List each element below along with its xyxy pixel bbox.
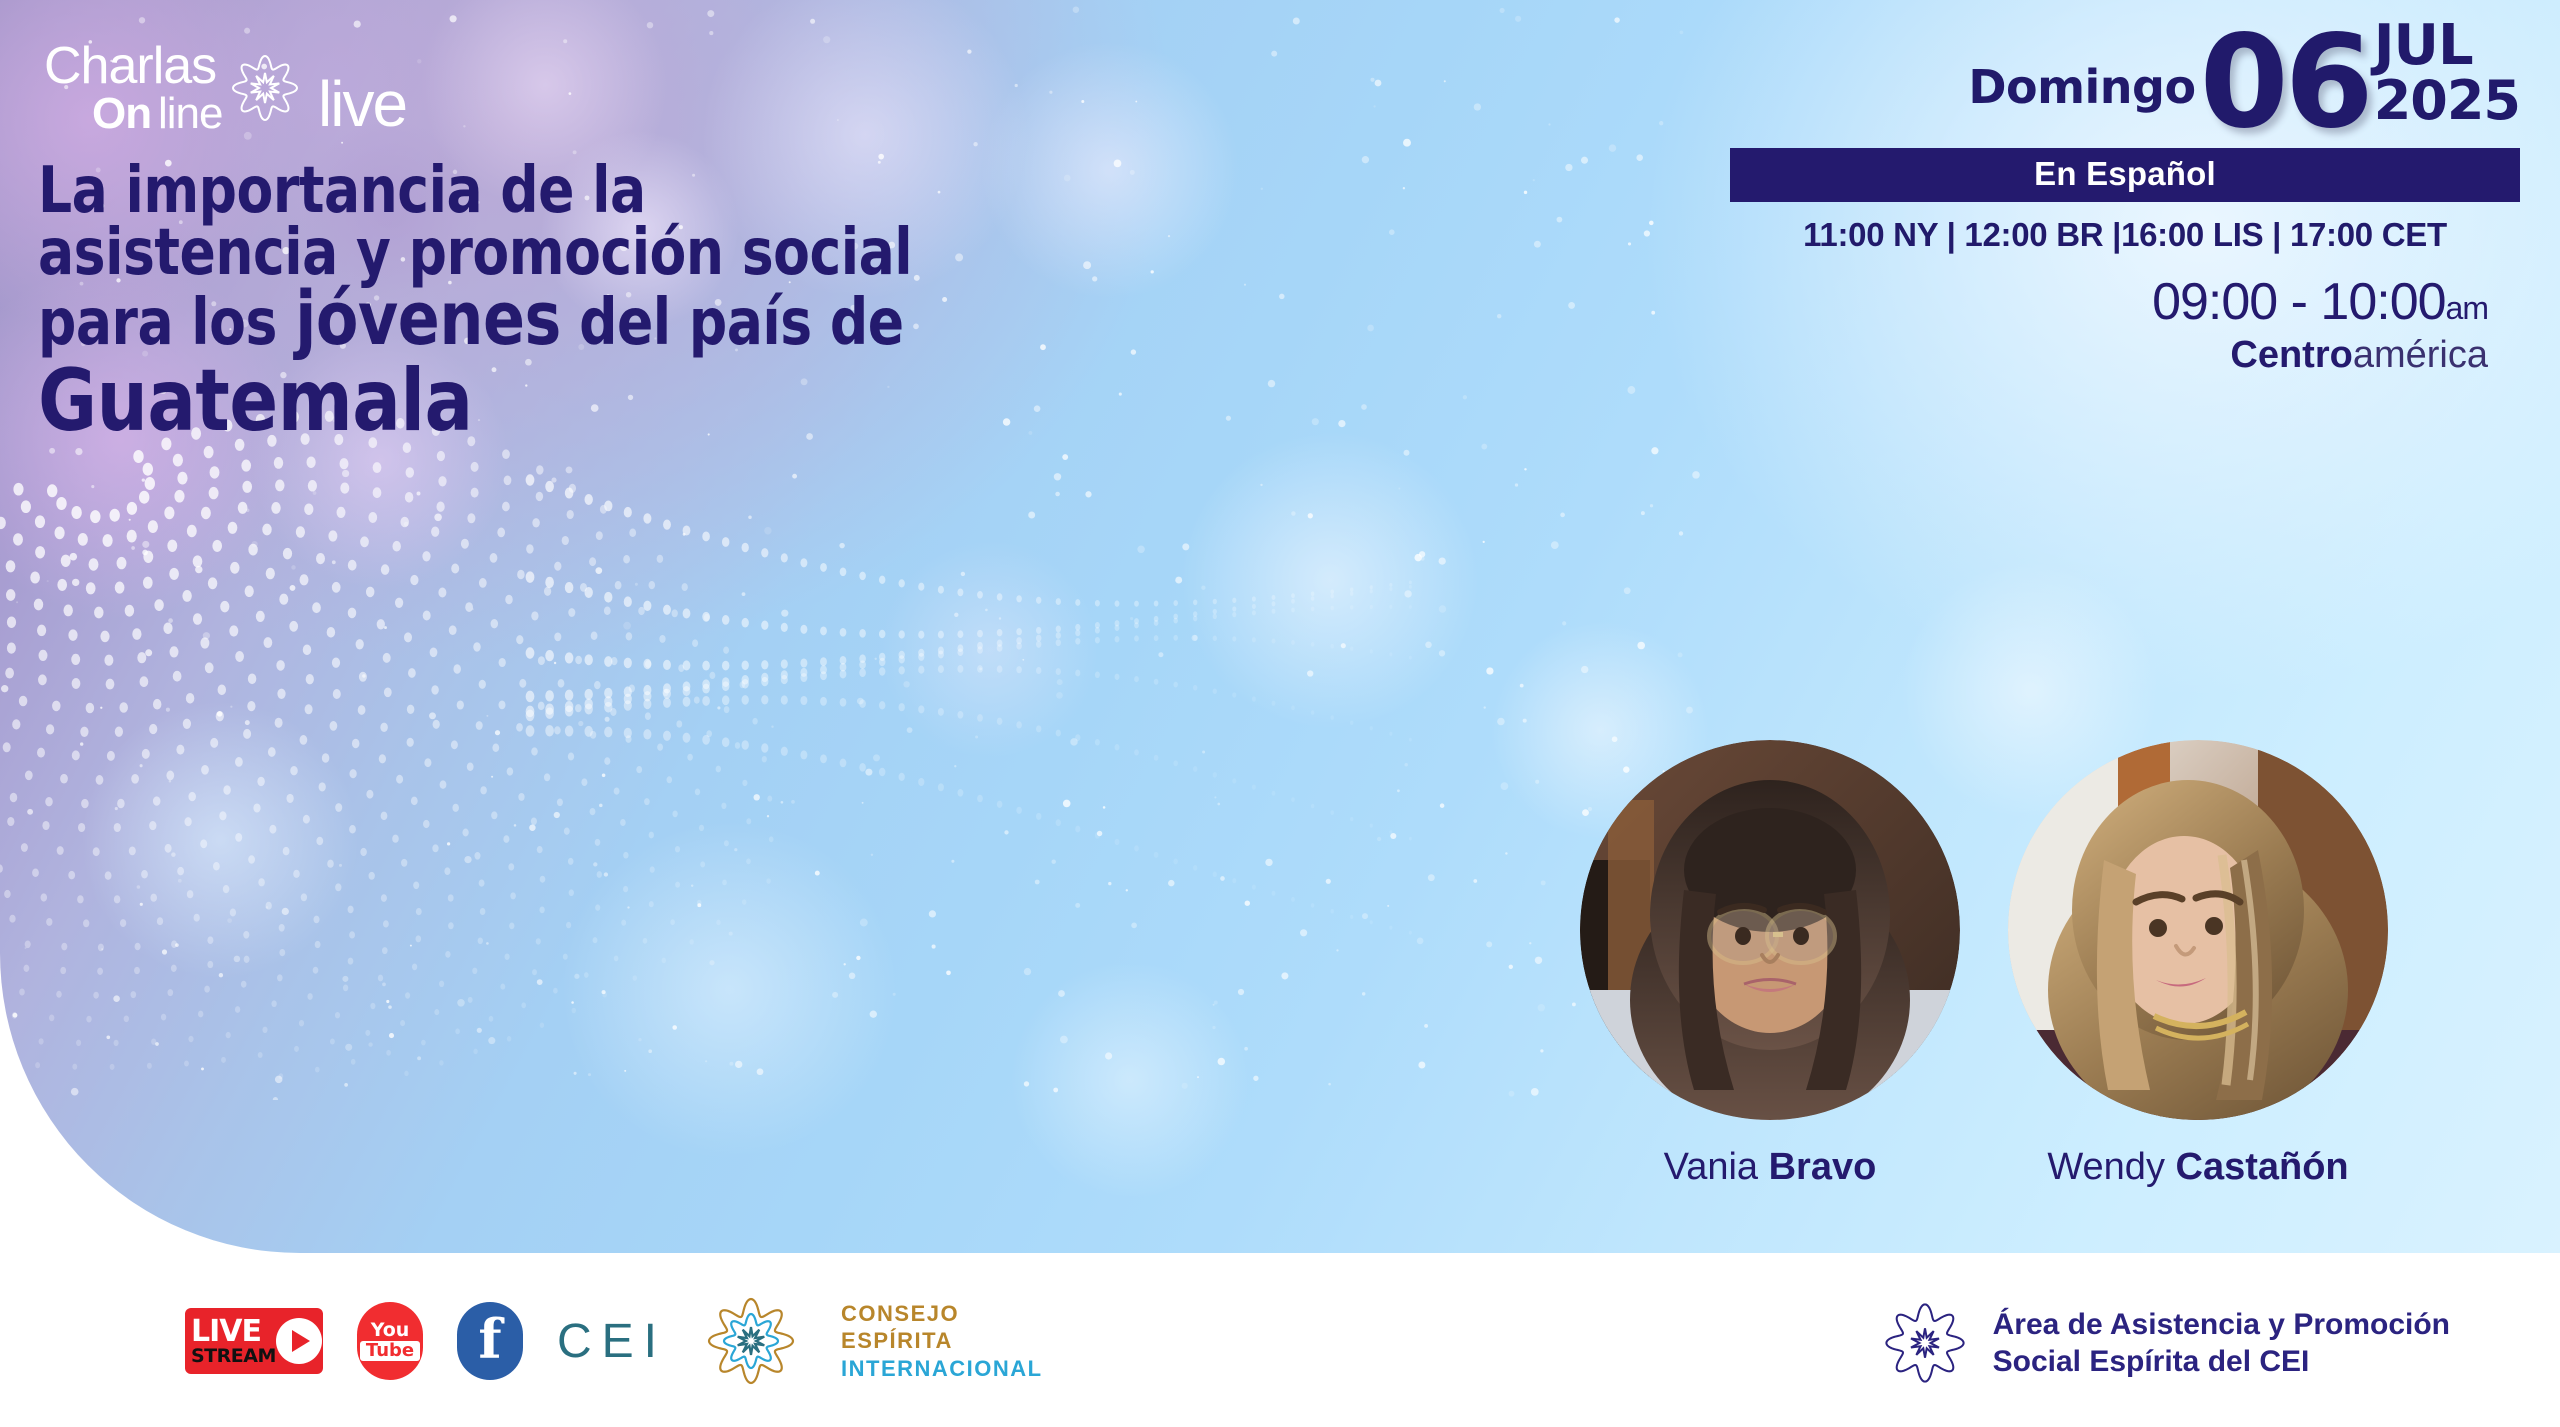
- cei-mandala-icon: [701, 1291, 801, 1391]
- month-label: JUL: [2374, 18, 2473, 74]
- facebook-icon[interactable]: f: [457, 1302, 523, 1380]
- region-label: Centroamérica: [1730, 334, 2520, 377]
- speaker-card: Wendy Castañón: [2008, 740, 2388, 1189]
- title-line-3-c: del país de: [561, 286, 904, 360]
- cei-fullname: CONSEJO ESPÍRITA INTERNACIONAL: [841, 1300, 1043, 1383]
- title-line-3-a: para los: [38, 286, 295, 360]
- svg-text:line: line: [158, 89, 223, 138]
- speaker-last-name: Bravo: [1769, 1146, 1877, 1188]
- bokeh-blob: [80, 700, 360, 980]
- footer-area-right: Área de Asistencia y Promoción Social Es…: [1879, 1297, 2450, 1389]
- bokeh-blob: [880, 540, 1100, 760]
- region-light: américa: [2353, 334, 2488, 376]
- footer-bar: LIVE STREAM You Tube f CEI: [0, 1253, 2560, 1427]
- youtube-tube-label: Tube: [360, 1341, 420, 1360]
- svg-text:Charlas: Charlas: [44, 37, 216, 95]
- speaker-card: Vania Bravo: [1580, 740, 1960, 1189]
- play-icon: [276, 1318, 322, 1364]
- live-label: LIVE: [191, 1317, 276, 1347]
- year-label: 2025: [2374, 74, 2520, 128]
- speaker-name: Wendy Castañón: [2008, 1146, 2388, 1189]
- event-hours: 09:00 - 10:00am: [1730, 272, 2520, 332]
- bokeh-blob: [1180, 430, 1480, 730]
- cei-line-2: ESPÍRITA: [841, 1327, 1043, 1355]
- webinar-banner: Charlas On line live La importancia de l…: [0, 0, 2560, 1427]
- language-bar: En Español: [1730, 148, 2520, 202]
- hours-value: 09:00 - 10:00: [2152, 273, 2445, 331]
- cei-wordmark: CEI: [557, 1314, 667, 1369]
- area-line-1: Área de Asistencia y Promoción: [1993, 1306, 2450, 1344]
- speaker-photo-wendy: [2008, 740, 2388, 1120]
- date-time-block: Domingo 06 JUL 2025 En Español 11:00 NY …: [1730, 18, 2520, 377]
- timezone-line: 11:00 NY | 12:00 BR |16:00 LIS | 17:00 C…: [1730, 216, 2520, 254]
- title-line-1: La importancia de la: [38, 160, 996, 222]
- cei-line-1: CONSEJO: [841, 1300, 1043, 1328]
- region-bold: Centro: [2230, 334, 2352, 376]
- svg-text:live: live: [318, 68, 406, 138]
- day-number: 06: [2200, 31, 2370, 136]
- bokeh-blob: [1010, 960, 1250, 1200]
- main-panel: Charlas On line live La importancia de l…: [0, 0, 2560, 1253]
- charlas-online-live-logo: Charlas On line live: [40, 28, 440, 138]
- speaker-first-name: Wendy: [2047, 1146, 2175, 1188]
- stream-label: STREAM: [191, 1347, 276, 1366]
- avatar: [2008, 740, 2388, 1120]
- speaker-photo-vania: [1580, 740, 1960, 1120]
- month-year-column: JUL 2025: [2374, 18, 2520, 136]
- speaker-name: Vania Bravo: [1580, 1146, 1960, 1189]
- title-line-4: Guatemala: [38, 360, 996, 443]
- title-highlight-jovenes: jóvenes: [295, 276, 561, 362]
- cei-line-3: INTERNACIONAL: [841, 1355, 1043, 1383]
- title-line-2: asistencia y promoción social: [38, 222, 996, 284]
- svg-text:On: On: [92, 89, 151, 138]
- speaker-last-name: Castañón: [2176, 1146, 2349, 1188]
- weekday-label: Domingo: [1968, 60, 2195, 136]
- area-mandala-icon: [1879, 1297, 1971, 1389]
- live-stream-badge: LIVE STREAM: [185, 1308, 323, 1374]
- bokeh-blob: [560, 820, 900, 1160]
- speakers-list: Vania Bravo: [1580, 740, 2480, 1189]
- facebook-glyph: f: [478, 1312, 501, 1366]
- youtube-you-label: You: [371, 1321, 410, 1339]
- page-title: La importancia de la asistencia y promoc…: [38, 160, 1068, 443]
- footer-logos-left: LIVE STREAM You Tube f CEI: [185, 1291, 1043, 1391]
- date-row: Domingo 06 JUL 2025: [1730, 18, 2520, 136]
- area-line-2: Social Espírita del CEI: [1993, 1343, 2450, 1381]
- area-name: Área de Asistencia y Promoción Social Es…: [1993, 1306, 2450, 1381]
- avatar: [1580, 740, 1960, 1120]
- title-line-3: para los jóvenes del país de: [38, 284, 996, 356]
- youtube-icon[interactable]: You Tube: [357, 1302, 423, 1380]
- hours-ampm: am: [2446, 290, 2488, 326]
- speaker-first-name: Vania: [1664, 1146, 1769, 1188]
